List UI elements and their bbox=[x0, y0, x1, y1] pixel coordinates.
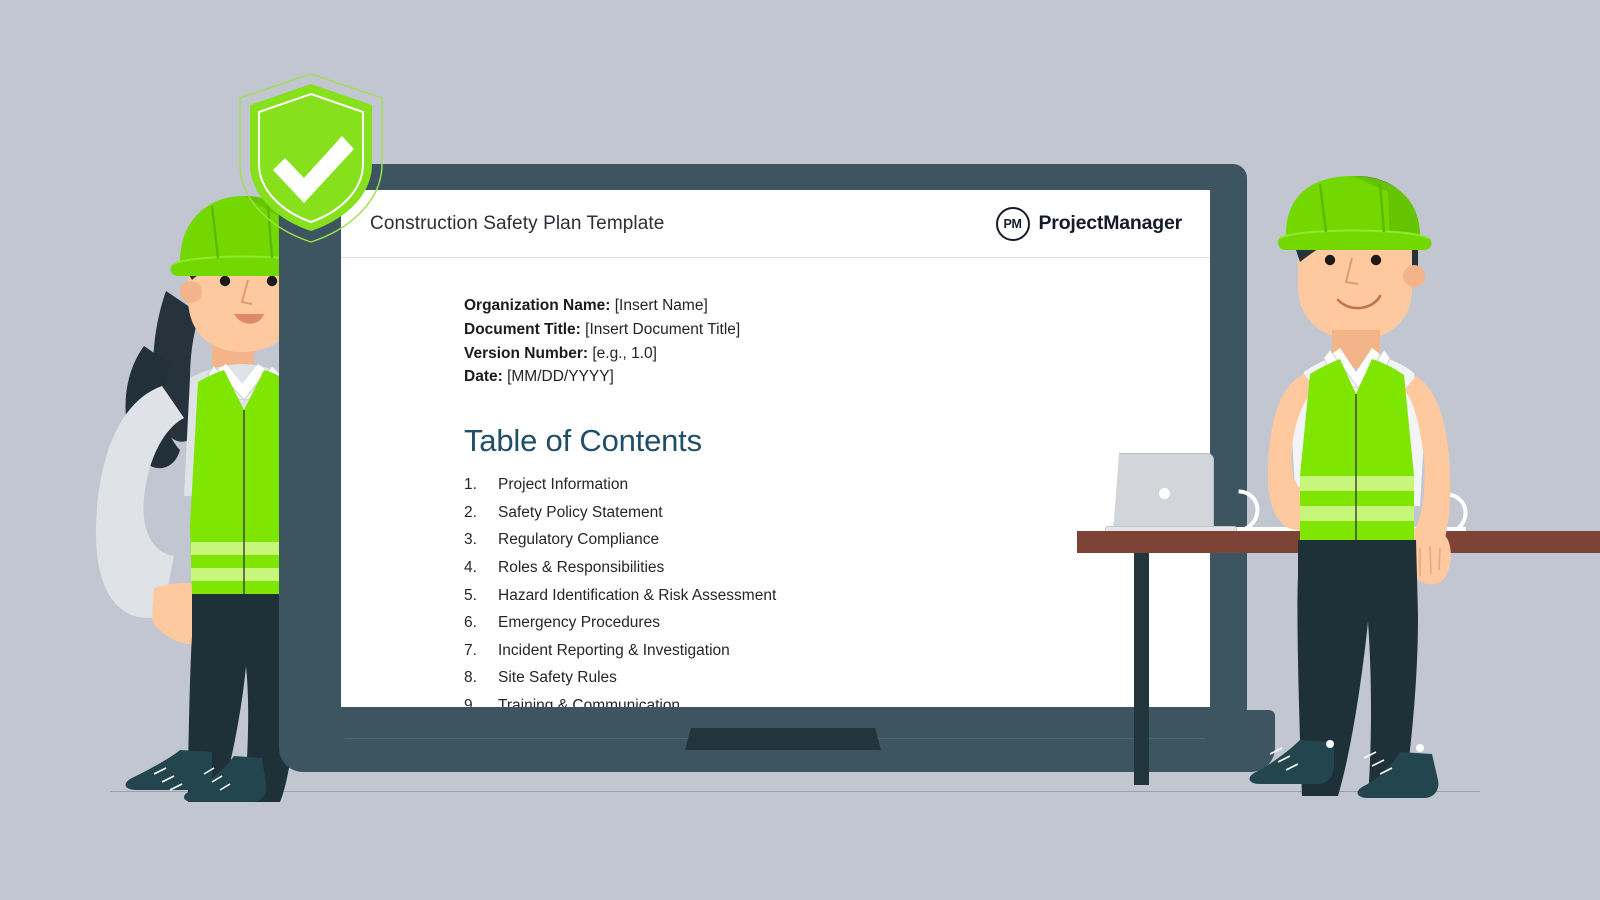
document-body: Organization Name: [Insert Name] Documen… bbox=[341, 258, 1210, 707]
laptop-logo-dot-icon bbox=[1159, 488, 1170, 499]
toc-item-label: Project Information bbox=[498, 471, 628, 499]
laptop-trackpad-notch bbox=[685, 728, 881, 750]
table-of-contents-list: 1. Project Information 2. Safety Policy … bbox=[464, 471, 1210, 707]
toc-item-label: Regulatory Compliance bbox=[498, 526, 659, 554]
toc-item-number: 7. bbox=[464, 637, 498, 665]
meta-value: [Insert Document Title] bbox=[585, 321, 740, 338]
toc-item-number: 8. bbox=[464, 664, 498, 692]
toc-item-label: Emergency Procedures bbox=[498, 609, 660, 637]
toc-item: 8. Site Safety Rules bbox=[464, 664, 1210, 692]
table-of-contents-heading: Table of Contents bbox=[464, 423, 1210, 459]
brand-name: ProjectManager bbox=[1039, 212, 1183, 235]
toc-item-number: 1. bbox=[464, 471, 498, 499]
toc-item-number: 9. bbox=[464, 692, 498, 707]
meta-row-date: Date: [MM/DD/YYYY] bbox=[464, 365, 1210, 389]
toc-item: 7. Incident Reporting & Investigation bbox=[464, 637, 1210, 665]
document-meta-block: Organization Name: [Insert Name] Documen… bbox=[464, 294, 1210, 389]
toc-item-label: Incident Reporting & Investigation bbox=[498, 637, 730, 665]
meta-value: [Insert Name] bbox=[615, 297, 708, 314]
meta-row-organization-name: Organization Name: [Insert Name] bbox=[464, 294, 1210, 318]
toc-item: 2. Safety Policy Statement bbox=[464, 499, 1210, 527]
toc-item-number: 4. bbox=[464, 554, 498, 582]
illustration-scene: Construction Safety Plan Template PM Pro… bbox=[0, 0, 1600, 900]
toc-item-number: 6. bbox=[464, 609, 498, 637]
meta-row-document-title: Document Title: [Insert Document Title] bbox=[464, 318, 1210, 342]
toc-item-label: Site Safety Rules bbox=[498, 664, 617, 692]
toc-item-number: 2. bbox=[464, 499, 498, 527]
toc-item-label: Roles & Responsibilities bbox=[498, 554, 664, 582]
meta-value: [MM/DD/YYYY] bbox=[507, 368, 614, 385]
toc-item: 9. Training & Communication bbox=[464, 692, 1210, 707]
toc-item-label: Training & Communication bbox=[498, 692, 680, 707]
toc-item: 5. Hazard Identification & Risk Assessme… bbox=[464, 582, 1210, 610]
toc-item: 4. Roles & Responsibilities bbox=[464, 554, 1210, 582]
toc-item-label: Hazard Identification & Risk Assessment bbox=[498, 582, 776, 610]
desk-leg bbox=[1134, 553, 1149, 785]
document-title: Construction Safety Plan Template bbox=[370, 213, 664, 235]
document-header: Construction Safety Plan Template PM Pro… bbox=[341, 190, 1210, 258]
meta-label: Document Title: bbox=[464, 321, 581, 338]
meta-label: Organization Name: bbox=[464, 297, 610, 314]
toc-item-number: 5. bbox=[464, 582, 498, 610]
brand-logo: PM ProjectManager bbox=[996, 207, 1183, 241]
shield-check-icon bbox=[236, 72, 386, 244]
toc-item-label: Safety Policy Statement bbox=[498, 499, 663, 527]
pm-circle-logo-icon: PM bbox=[996, 207, 1030, 241]
meta-label: Date: bbox=[464, 368, 503, 385]
toc-item-number: 3. bbox=[464, 526, 498, 554]
toc-item: 1. Project Information bbox=[464, 471, 1210, 499]
toc-item: 6. Emergency Procedures bbox=[464, 609, 1210, 637]
person-right-male-worker bbox=[1234, 176, 1484, 808]
meta-label: Version Number: bbox=[464, 345, 588, 362]
meta-value: [e.g., 1.0] bbox=[592, 345, 657, 362]
document-page: Construction Safety Plan Template PM Pro… bbox=[341, 190, 1210, 707]
meta-row-version-number: Version Number: [e.g., 1.0] bbox=[464, 342, 1210, 366]
